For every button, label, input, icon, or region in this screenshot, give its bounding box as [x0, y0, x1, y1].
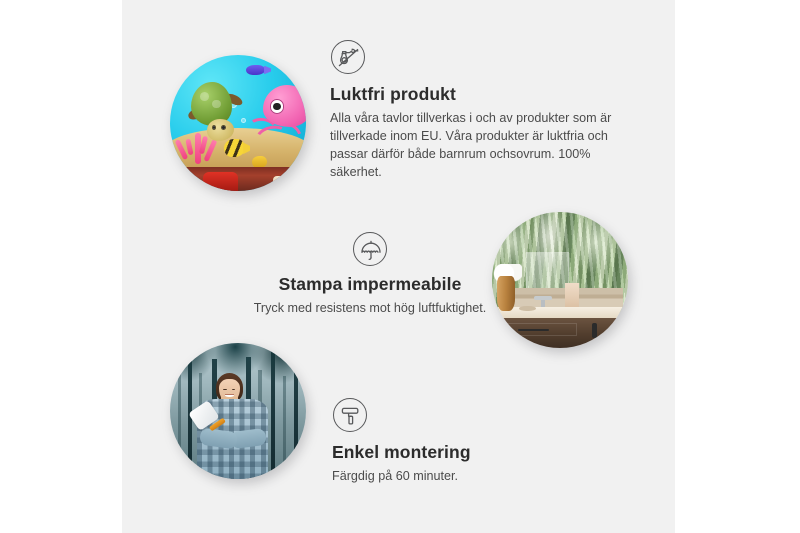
turtle-eye [221, 125, 226, 130]
painter-artwork [170, 343, 306, 479]
cabinet-handle [615, 323, 620, 339]
feature-easy-mounting: Enkel montering Färgdig på 60 minuter. [332, 398, 612, 486]
ocean-artwork [170, 55, 306, 191]
no-spray-bottle-icon [331, 40, 365, 74]
octopus-eye [270, 99, 284, 113]
octopus [246, 85, 306, 153]
feature-body: Tryck med resistens mot hög luftfuktighe… [200, 300, 540, 318]
content-panel: Luktfri produkt Alla våra tavlor tillver… [122, 0, 675, 533]
cabinet-handle [592, 323, 597, 339]
feature-title: Enkel montering [332, 442, 612, 463]
product-info-graphic: Luktfri produkt Alla våra tavlor tillver… [0, 0, 800, 533]
octopus-head [263, 85, 306, 127]
feature-body: Färgdig på 60 minuter. [332, 468, 612, 486]
eye [223, 389, 226, 391]
feature-odour-free: Luktfri produkt Alla våra tavlor tillver… [330, 40, 620, 182]
paint-roller-icon [333, 398, 367, 432]
eye [232, 389, 235, 391]
feature-title: Luktfri produkt [330, 84, 620, 105]
woman-painter [197, 373, 268, 479]
drawer-handle [518, 329, 549, 330]
sea-turtle [188, 82, 248, 142]
umbrella-icon [353, 232, 387, 266]
turtle-head [207, 119, 233, 141]
ocean-foreground-rocks [170, 167, 306, 191]
feature-body: Alla våra tavlor tillverkas i och av pro… [330, 110, 620, 182]
feature-title: Stampa impermeabile [200, 274, 540, 295]
feature-waterproof: Stampa impermeabile Tryck med resistens … [200, 232, 540, 318]
image-ocean-kids-mural [170, 55, 306, 191]
yellow-striped-fish [224, 139, 244, 157]
wood-vanity-cabinet [500, 318, 628, 348]
turtle-eye [212, 125, 217, 130]
image-painter-forest [170, 343, 306, 479]
